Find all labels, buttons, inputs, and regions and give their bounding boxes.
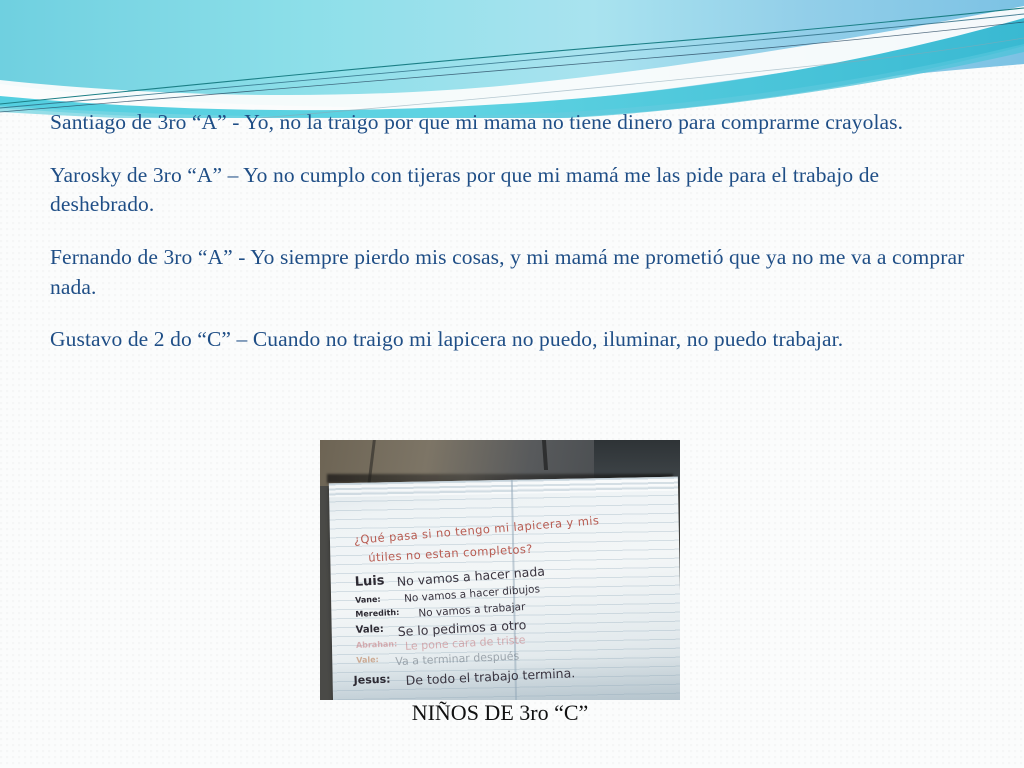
flipchart-photo: ¿Qué pasa si no tengo mi lapicera y mis …	[320, 440, 680, 700]
handwriting-name-vane: Vane:	[355, 594, 381, 604]
paragraph-yarosky: Yarosky de 3ro “A” – Yo no cumplo con ti…	[50, 161, 970, 220]
presentation-slide: Santiago de 3ro “A” - Yo, no la traigo p…	[0, 0, 1024, 768]
handwriting-name-jesus: Jesus:	[353, 673, 390, 687]
handwriting-name-luis: Luis	[355, 574, 386, 591]
slide-body-text: Santiago de 3ro “A” - Yo, no la traigo p…	[50, 108, 970, 355]
paragraph-fernando: Fernando de 3ro “A” - Yo siempre pierdo …	[50, 243, 970, 302]
handwriting-name-vale-second: Vale:	[356, 655, 379, 665]
paragraph-santiago: Santiago de 3ro “A” - Yo, no la traigo p…	[50, 108, 970, 138]
flipchart-photo-container: ¿Qué pasa si no tengo mi lapicera y mis …	[320, 440, 680, 700]
handwriting-name-abrahan: Abrahan:	[356, 639, 398, 650]
flipchart-paper: ¿Qué pasa si no tengo mi lapicera y mis …	[329, 477, 680, 700]
paragraph-gustavo: Gustavo de 2 do “C” – Cuando no traigo m…	[50, 325, 970, 355]
photo-caption: NIÑOS DE 3ro “C”	[320, 700, 680, 726]
decorative-wave-banner	[0, 0, 1024, 118]
handwriting-name-vale-first: Vale:	[356, 624, 385, 636]
